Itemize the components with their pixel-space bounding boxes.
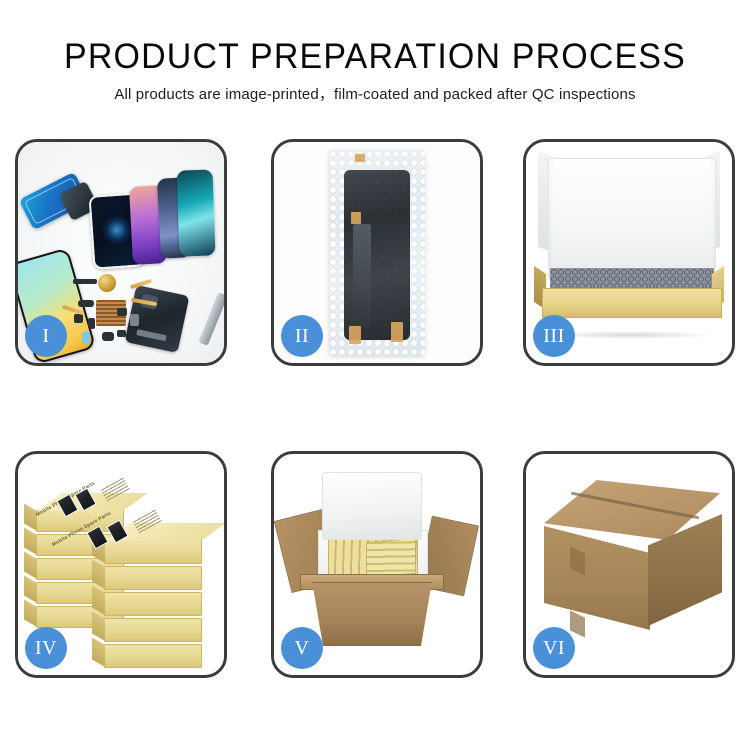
process-step-card-6[interactable]: VI <box>523 451 735 678</box>
spare-part-chip <box>130 314 139 326</box>
stacked-box <box>104 540 202 564</box>
stacked-box <box>104 592 202 616</box>
carton-left-face <box>544 526 650 630</box>
carton-tape-lower <box>570 610 585 637</box>
step-badge-3: III <box>533 315 575 357</box>
white-foam-box-lid <box>322 472 422 540</box>
yellow-tray-front-face <box>542 288 722 318</box>
stacked-box <box>104 566 202 590</box>
teal-phone-display <box>177 169 216 256</box>
process-step-grid: I II III <box>0 139 750 684</box>
step-badge-2: II <box>281 315 323 357</box>
process-step-card-3[interactable]: III <box>523 139 735 366</box>
tape-piece <box>355 154 365 162</box>
page-title: PRODUCT PREPARATION PROCESS <box>11 36 739 78</box>
process-step-card-1[interactable]: I <box>15 139 227 366</box>
process-step-card-2[interactable]: II <box>271 139 483 366</box>
stacked-box <box>104 644 202 668</box>
tape-piece <box>391 322 403 342</box>
bubble-wrap-bag <box>329 150 425 356</box>
process-step-card-5[interactable]: V <box>271 451 483 678</box>
spare-part-chip <box>117 330 126 337</box>
step-badge-4: IV <box>25 627 67 669</box>
gold-coil-part <box>98 274 116 292</box>
step-badge-5: V <box>281 627 323 669</box>
spare-part-chip <box>102 332 114 341</box>
stacked-box <box>104 618 202 642</box>
spare-part-chip <box>73 279 97 284</box>
white-foam-lid <box>548 158 716 280</box>
wrapped-phone-screen <box>344 170 410 340</box>
process-step-card-4[interactable]: Mobile Phone Spare Parts Mobile Phone Sp… <box>15 451 227 678</box>
spare-part-chip <box>82 332 90 344</box>
page-subtitle: All products are image-printed，film-coat… <box>0 84 750 106</box>
spare-part-chip <box>117 308 127 316</box>
spare-part-chip <box>88 318 95 329</box>
spare-part-chip <box>78 300 94 307</box>
step-badge-6: VI <box>533 627 575 669</box>
spare-part-chip <box>74 314 83 323</box>
carton-front-face <box>304 582 440 646</box>
step-badge-1: I <box>25 315 67 357</box>
tape-piece <box>351 212 361 224</box>
tape-piece <box>349 326 361 344</box>
repair-tool <box>198 292 224 346</box>
page-header: PRODUCT PREPARATION PROCESS All products… <box>0 0 750 106</box>
yellow-boxes-inside-angled <box>366 538 416 578</box>
